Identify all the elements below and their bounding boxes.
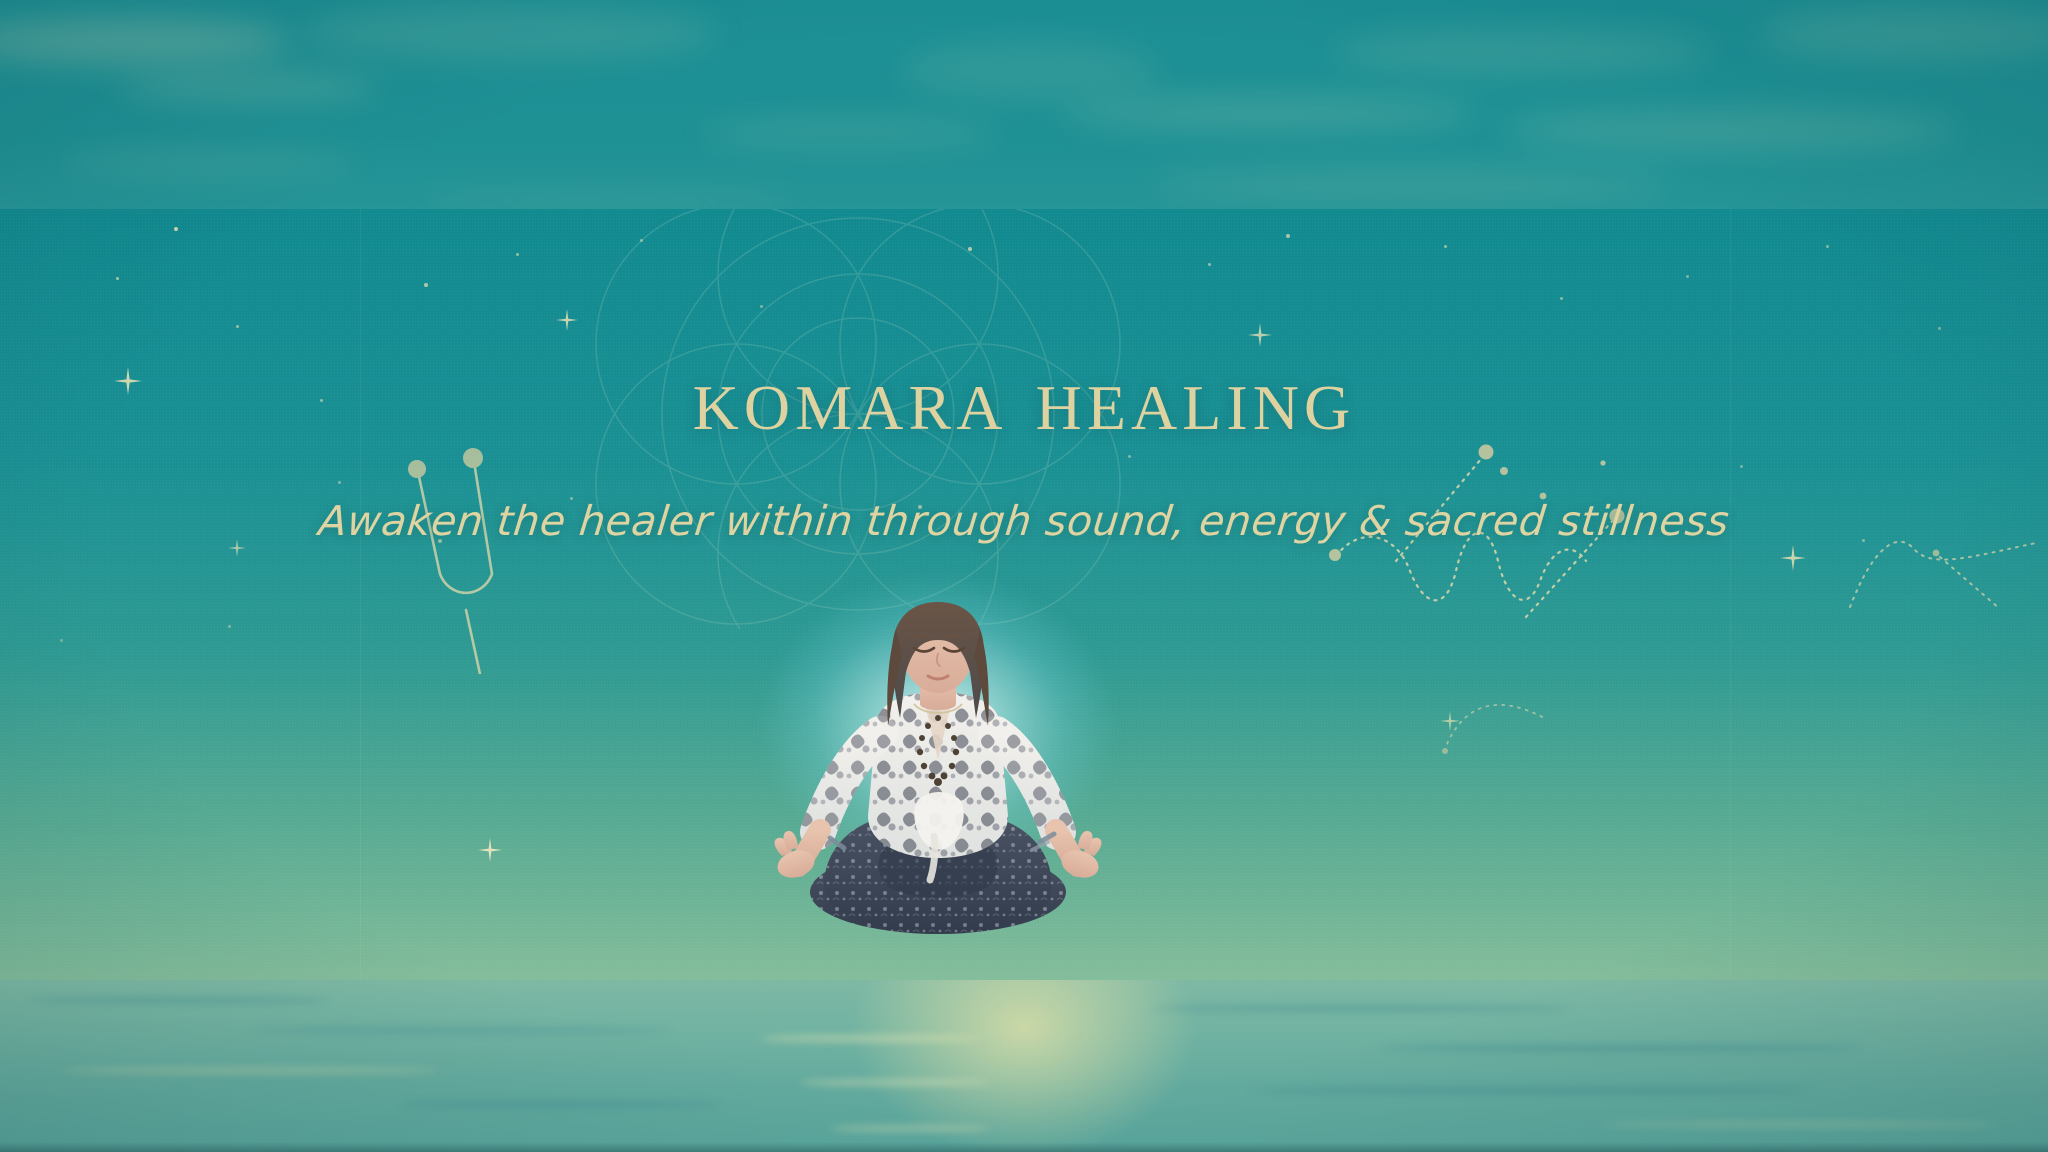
sparkle-icon bbox=[556, 309, 578, 331]
panel-seam-left bbox=[360, 209, 361, 980]
tagline: Awaken the healer within through sound, … bbox=[0, 497, 2048, 546]
tuning-fork-icon bbox=[388, 424, 518, 674]
sparkle-icon bbox=[1440, 711, 1460, 731]
water-layer bbox=[0, 975, 2048, 1152]
banner-canvas: Komara Healing Awaken the healer within … bbox=[0, 0, 2048, 1152]
meditating-figure bbox=[768, 600, 1108, 945]
sparkle-icon bbox=[1248, 323, 1272, 347]
panel-seam-right bbox=[1730, 209, 1731, 980]
sparkle-icon bbox=[1780, 545, 1806, 571]
lotus-pose-illustration bbox=[768, 600, 1108, 945]
page-title: Komara Healing bbox=[0, 352, 2048, 444]
sparkle-icon bbox=[478, 838, 502, 862]
